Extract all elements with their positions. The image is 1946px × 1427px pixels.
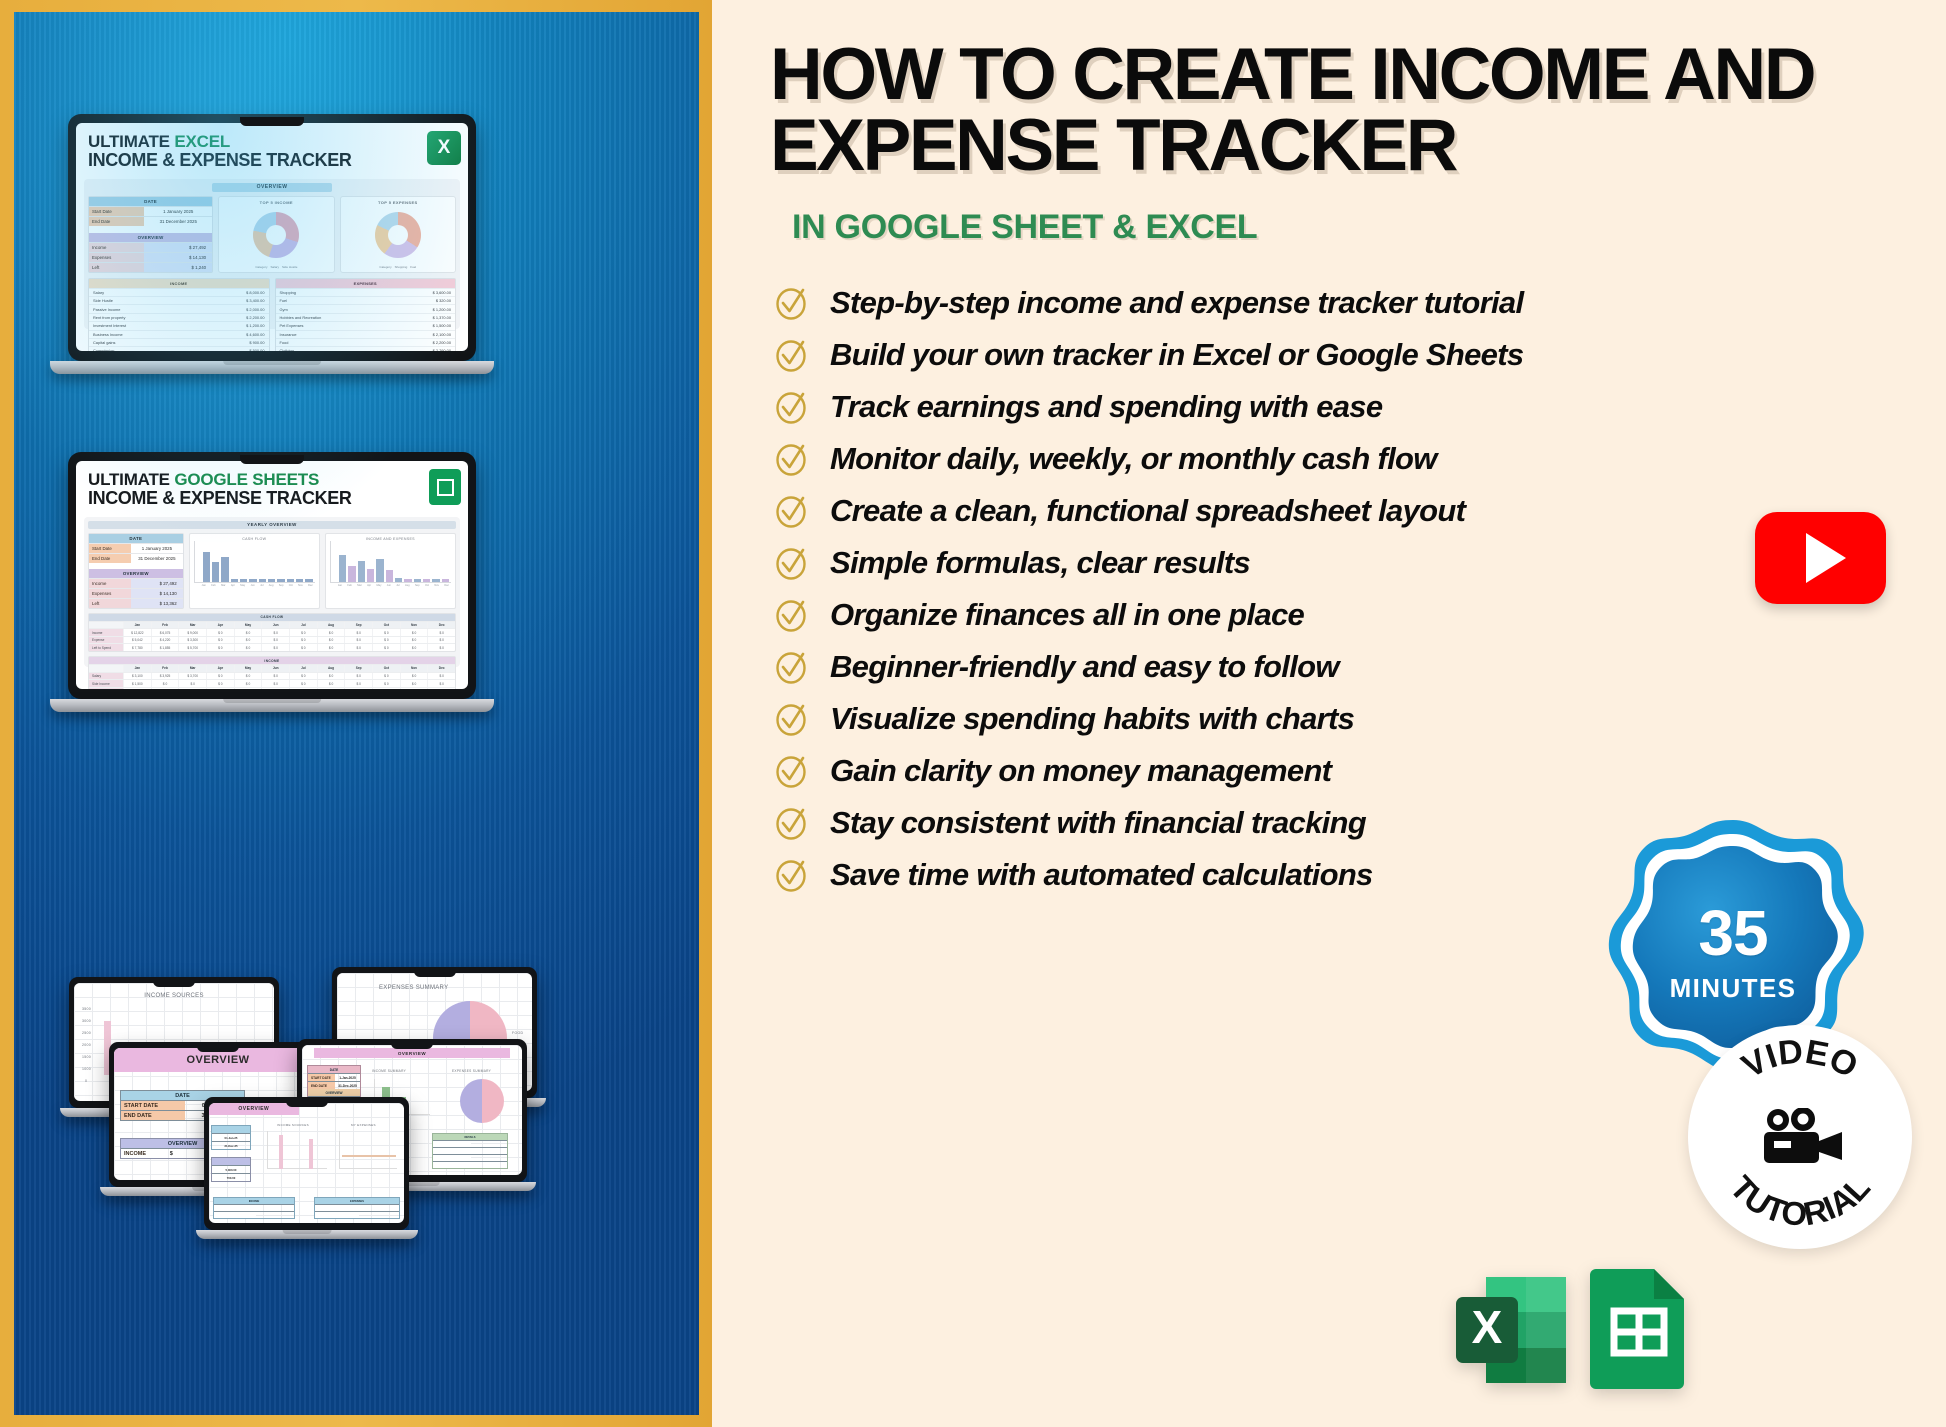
x-tick: Oct <box>425 584 429 587</box>
sheets-grid-icon <box>437 479 454 496</box>
webcam-notch <box>240 455 304 464</box>
table-row: Food$ 2,200.00 <box>276 338 456 346</box>
title-accent: EXCEL <box>174 132 230 151</box>
mockup-title-line1: ULTIMATE GOOGLE SHEETS <box>88 471 456 489</box>
expenses-table: EXPENSES <box>314 1197 400 1219</box>
row-label: Hobbies and Recreation <box>280 315 322 320</box>
row-value: $ 0 <box>178 688 206 689</box>
date-and-overview-tables: DATE Start Date 1 January 2025 End Date … <box>88 533 184 609</box>
row-value: $ 0 <box>234 688 262 689</box>
row-label: Business Income <box>93 332 123 337</box>
row-label: Left <box>89 599 131 608</box>
x-tick: Mar <box>221 584 225 587</box>
row-value: $ 0 <box>427 688 455 689</box>
row-value: $ 27,492 <box>131 579 183 588</box>
row-value: $ 0 <box>372 637 400 644</box>
row-label: Gym <box>280 307 288 312</box>
row-value: $ 1,200.00 <box>246 323 264 328</box>
table-row: Fuel$ 320.00 <box>276 296 456 304</box>
legend-item: FOOD <box>512 1031 523 1035</box>
month-header: Mar <box>178 622 206 629</box>
date-table-header: DATE <box>89 534 183 543</box>
row-value: $ 0 <box>372 680 400 687</box>
row-value: $ 1,200.00 <box>433 307 451 312</box>
legend-item: Fuel <box>410 265 416 269</box>
row-value: $ 0 <box>289 688 317 689</box>
check-circle-icon <box>774 286 808 320</box>
feature-item: Step-by-step income and expense tracker … <box>774 277 1906 329</box>
table-row: End Date 31 December 2025 <box>89 216 212 226</box>
row-value: $ 0 <box>234 680 262 687</box>
y-tick: 1500 <box>82 1055 91 1059</box>
chart-title: INCOME SOURCES <box>277 1123 309 1127</box>
month-header: May <box>234 622 262 629</box>
x-tick: May <box>376 584 381 587</box>
y-tick: 3000 <box>82 1019 91 1023</box>
date-and-overview-tables: DATE Start Date 1 January 2025 End Date … <box>88 196 213 273</box>
table-row: Pet Expenses$ 1,500.00 <box>276 321 456 329</box>
chart-title: EXPENSES SUMMARY <box>379 985 448 991</box>
chart-x-axis: JanFebMarAprMayJunJulAugSepOctNovDec <box>330 583 451 587</box>
row-value: $ 6,075 <box>151 629 179 636</box>
google-sheets-app-badge <box>429 469 461 505</box>
mockup-header: ULTIMATE EXCEL INCOME & EXPENSE TRACKER <box>76 123 468 175</box>
y-tick: 2500 <box>82 1031 91 1035</box>
check-circle-icon <box>774 442 808 476</box>
row-label: Side Hustle <box>93 298 113 303</box>
month-header: Dec <box>427 622 455 629</box>
feature-label: Gain clarity on money management <box>830 753 1331 789</box>
row-value: $ 0 <box>234 644 262 651</box>
legend-item: Shopping <box>395 265 408 269</box>
month-header: Feb <box>151 622 179 629</box>
row-value: $ 12,822 <box>123 629 151 636</box>
row-value: $ 1,855 <box>151 644 179 651</box>
workbook-tab: YEARLY OVERVIEW <box>88 521 456 529</box>
table-row: Shopping$ 3,600.00 <box>276 288 456 296</box>
overview-band: OVERVIEW <box>209 1103 299 1115</box>
row-value: $ 0 <box>372 688 400 689</box>
feature-item: Track earnings and spending with ease <box>774 381 1906 433</box>
row-value: 31-Dec-2025 <box>335 1082 360 1089</box>
y-tick: 1000 <box>82 1067 91 1071</box>
feature-item: Simple formulas, clear results <box>774 537 1906 589</box>
x-tick: Oct <box>289 584 293 587</box>
row-value: 31-Dec-25 <box>212 1142 250 1149</box>
row-value: $ 1,000 <box>123 688 151 689</box>
x-tick: Jul <box>396 584 399 587</box>
check-circle-icon <box>774 858 808 892</box>
row-value: $ 0 <box>400 688 428 689</box>
y-tick: 2000 <box>82 1043 91 1047</box>
legend-item: Category <box>379 265 391 269</box>
row-value: $ 0 <box>344 629 372 636</box>
feature-item: Organize finances all in one place <box>774 589 1906 641</box>
feature-list: Step-by-step income and expense tracker … <box>774 277 1906 901</box>
workbook-tab-label: OVERVIEW <box>212 183 332 192</box>
income-expenses-chart-card: INCOME AND EXPENSES JanFebMarAprMayJunJu… <box>325 533 456 609</box>
table-row: Rent from property$ 2,200.00 <box>89 313 269 321</box>
row-value: $ 0 <box>206 644 234 651</box>
row-value: $ 3,400.00 <box>246 298 264 303</box>
table-row: Start Date 1 January 2025 <box>89 543 183 553</box>
table-row: Left to Spend$ 7,780$ 1,855$ 5,700$ 0$ 0… <box>89 643 455 651</box>
month-header: Jan <box>123 665 151 672</box>
check-circle-icon <box>774 494 808 528</box>
row-value: $ 14,130 <box>144 253 212 262</box>
donut-chart-expenses <box>375 212 421 258</box>
app-logos: X <box>1452 1263 1688 1389</box>
month-header: Oct <box>372 665 400 672</box>
title-accent: GOOGLE SHEETS <box>174 470 319 489</box>
row-value: $ 0 <box>261 637 289 644</box>
table-header-row: JanFebMarAprMayJunJulAugSepOctNovDec <box>89 621 455 629</box>
table-row: Capital gains$ 900.00 <box>89 338 269 346</box>
row-value: $ 0 <box>206 673 234 680</box>
video-camera-icon <box>1754 1108 1846 1166</box>
check-circle-icon <box>774 546 808 580</box>
row-value: $ 9,000 <box>178 629 206 636</box>
feature-label: Organize finances all in one place <box>830 597 1304 633</box>
page-title: HOW TO CREATE INCOME AND EXPENSE TRACKER <box>770 40 1880 182</box>
bar-chart-cashflow <box>194 541 315 583</box>
legend-item: Salary <box>271 265 280 269</box>
month-header: Aug <box>317 665 345 672</box>
row-label: Expense <box>89 637 123 644</box>
row-label: Start Date <box>89 207 144 216</box>
month-header: Jun <box>261 622 289 629</box>
row-value: $ 3,925 <box>151 673 179 680</box>
workbook-tab-label: YEARLY OVERVIEW <box>88 521 456 529</box>
feature-label: Track earnings and spending with ease <box>830 389 1382 425</box>
workbook-tab: OVERVIEW <box>212 183 332 192</box>
row-value: $ 1,500 <box>123 680 151 687</box>
laptop-lid: X ULTIMATE EXCEL INCOME & EXPENSE TRACKE… <box>68 114 476 361</box>
row-value: $ 0 <box>261 644 289 651</box>
row-label: INCOME <box>121 1149 168 1158</box>
x-tick: Jan <box>202 584 206 587</box>
laptop-screen: ULTIMATE GOOGLE SHEETS INCOME & EXPENSE … <box>76 461 468 689</box>
row-label: Shopping <box>280 290 296 295</box>
product-listing-poster: X ULTIMATE EXCEL INCOME & EXPENSE TRACKE… <box>0 0 1946 1427</box>
row-value: $ 0 <box>317 673 345 680</box>
month-header: Nov <box>400 622 428 629</box>
blue-backdrop: X ULTIMATE EXCEL INCOME & EXPENSE TRACKE… <box>14 12 699 1415</box>
row-value: 1 January 2025 <box>144 207 212 216</box>
row-label: Rent from property <box>93 315 125 320</box>
x-tick: Aug <box>405 584 410 587</box>
row-value: $ 5,700 <box>178 644 206 651</box>
overview-table: 5,300.00 700.00 <box>211 1157 251 1182</box>
table-row: Side Hustle$ 3,400.00 <box>89 296 269 304</box>
row-label: Fuel <box>280 298 288 303</box>
row-value: $ 0 <box>234 673 262 680</box>
row-value: $ 2,200.00 <box>433 340 451 345</box>
title-prefix: ULTIMATE <box>88 470 170 489</box>
microsoft-excel-logo: X <box>1452 1271 1570 1389</box>
table-row: Commission$ 500.00 <box>89 346 269 351</box>
month-header: Feb <box>151 665 179 672</box>
row-value: $ 2,760.00 <box>433 348 451 351</box>
table-row: Income $ 27,492 <box>89 578 183 588</box>
row-value: $ 0 <box>178 680 206 687</box>
row-value: $ 0 <box>400 637 428 644</box>
title-prefix: ULTIMATE <box>88 132 170 151</box>
overview-table-header: OVERVIEW <box>89 569 183 578</box>
row-value: 01-Jan-25 <box>212 1134 250 1141</box>
cash-flow-chart-card: CASH FLOW JanFebMarAprMayJunJulAugSepOct… <box>189 533 320 609</box>
row-value: $ 1,500.00 <box>433 323 451 328</box>
check-circle-icon <box>774 806 808 840</box>
mockup-title-line1: ULTIMATE EXCEL <box>88 133 456 151</box>
row-value: $ 3,700 <box>178 673 206 680</box>
income-expense-tables: INCOME Salary$ 8,000.00Side Hustle$ 3,40… <box>88 278 456 351</box>
overview-band: OVERVIEW <box>314 1048 510 1058</box>
row-value: $ 1,370.00 <box>433 315 451 320</box>
income-band: INCOME JanFebMarAprMayJunJulAugSepOctNov… <box>88 656 456 689</box>
table-row: START DATE 1-Jan-2025 <box>308 1073 360 1081</box>
row-value: $ 0 <box>289 673 317 680</box>
table-row: Side Income$ 1,500$ 0$ 0$ 0$ 0$ 0$ 0$ 0$… <box>89 679 455 687</box>
x-tick: Aug <box>269 584 274 587</box>
table-row: Start Date 1 January 2025 <box>89 206 212 216</box>
feature-item: Beginner-friendly and easy to follow <box>774 641 1906 693</box>
youtube-play-icon[interactable] <box>1755 512 1886 604</box>
feature-label: Stay consistent with financial tracking <box>830 805 1366 841</box>
row-value: $ 0 <box>317 644 345 651</box>
excel-letter: X <box>1472 1301 1503 1353</box>
check-circle-icon <box>774 754 808 788</box>
webcam-notch <box>240 117 304 126</box>
row-value: $ 0 <box>317 688 345 689</box>
row-value: $ 0 <box>400 629 428 636</box>
table-row: Expenses $ 14,130 <box>89 252 212 262</box>
check-circle-icon <box>774 650 808 684</box>
row-label: End Date <box>89 554 131 563</box>
row-value: 1-Jan-2025 <box>335 1074 360 1081</box>
device-cluster: INCOME SOURCES 3500 3000 2500 2000 1500 … <box>14 967 699 1387</box>
row-value: $ 0 <box>344 673 372 680</box>
feature-label: Beginner-friendly and easy to follow <box>830 649 1339 685</box>
band-header: CASH FLOW <box>89 614 455 621</box>
laptop-screen: OVERVIEW 01-Jan-25 31-Dec-25 5,300.00 70… <box>209 1103 404 1223</box>
table-row: Left $ 13,362 <box>89 598 183 608</box>
month-header: Oct <box>372 622 400 629</box>
row-value: $ 0 <box>261 673 289 680</box>
x-tick: Sep <box>279 584 284 587</box>
table-row: Income $ 27,492 <box>89 242 212 252</box>
band-header: INCOME <box>89 657 455 664</box>
row-value: $ 5,042 <box>123 637 151 644</box>
row-value: $ 0 <box>151 680 179 687</box>
table-header-row: JanFebMarAprMayJunJulAugSepOctNovDec <box>89 664 455 672</box>
page-subtitle: IN GOOGLE SHEET & EXCEL <box>792 208 1906 247</box>
table-row: Gym$ 1,200.00 <box>276 304 456 312</box>
row-value: 31 December 2025 <box>131 554 183 563</box>
row-label: End Date <box>89 217 144 226</box>
row-label: Expenses <box>89 253 144 262</box>
feature-item: Gain clarity on money management <box>774 745 1906 797</box>
row-label: START DATE <box>308 1074 335 1081</box>
legend-item: Category <box>255 265 267 269</box>
chart-title: EXPENSES SUMMARY <box>452 1069 491 1073</box>
row-label: Income <box>89 579 131 588</box>
x-tick: Apr <box>231 584 235 587</box>
workbook-area: YEARLY OVERVIEW DATE Start Date 1 Januar… <box>84 517 460 667</box>
row-label: Salary <box>93 290 104 295</box>
chart-title: MY EXPENSES <box>351 1123 376 1127</box>
row-value: $ 1,240 <box>144 263 212 272</box>
row-value: $ 0 <box>289 637 317 644</box>
x-tick: Nov <box>434 584 439 587</box>
feature-item: Monitor daily, weekly, or monthly cash f… <box>774 433 1906 485</box>
cashflow-band: CASH FLOW JanFebMarAprMayJunJulAugSepOct… <box>88 613 456 652</box>
mockup-title-line2: INCOME & EXPENSE TRACKER <box>88 489 456 509</box>
bar-chart-income-expenses <box>330 541 451 583</box>
row-value: $ 0 <box>372 644 400 651</box>
row-value: $ 3,100 <box>123 673 151 680</box>
row-label: Food <box>280 340 289 345</box>
x-tick: May <box>240 584 245 587</box>
income-table: INCOME <box>213 1197 295 1219</box>
row-label: Capital gains <box>93 340 116 345</box>
month-header: Aug <box>317 622 345 629</box>
row-value: $ 13,362 <box>131 599 183 608</box>
row-label: Commission <box>93 348 114 351</box>
right-content-panel: HOW TO CREATE INCOME AND EXPENSE TRACKER… <box>712 0 1946 1427</box>
laptop-base <box>50 699 494 712</box>
feature-item: Build your own tracker in Excel or Googl… <box>774 329 1906 381</box>
row-value: $ 3,300 <box>178 637 206 644</box>
row-value: $ 0 <box>206 637 234 644</box>
row-value: $ 0 <box>206 629 234 636</box>
feature-item: Create a clean, functional spreadsheet l… <box>774 485 1906 537</box>
y-tick: 3500 <box>82 1007 91 1011</box>
overview-table-header: OVERVIEW <box>89 233 212 242</box>
row-value: $ 8,000.00 <box>246 290 264 295</box>
row-value: 700.00 <box>212 1174 250 1181</box>
month-header: Apr <box>206 622 234 629</box>
table-row: Expenses $ 14,130 <box>89 588 183 598</box>
row-value: $ 0 <box>289 644 317 651</box>
laptop-screen: X ULTIMATE EXCEL INCOME & EXPENSE TRACKE… <box>76 123 468 351</box>
row-value: $ 0 <box>427 637 455 644</box>
table-row: Hobbies and Recreation$ 1,370.00 <box>276 313 456 321</box>
x-tick: Jun <box>387 584 391 587</box>
workbook-area: OVERVIEW DATE Start Date 1 January 2025 <box>84 179 460 329</box>
row-value: $ 0 <box>400 680 428 687</box>
feature-label: Save time with automated calculations <box>830 857 1373 893</box>
row-value: $ 0 <box>372 629 400 636</box>
row-value: $ 900.00 <box>249 340 264 345</box>
chart-title: INCOME SUMMARY <box>372 1069 406 1073</box>
month-header: Dec <box>427 665 455 672</box>
table-row: End Date 31 December 2025 <box>89 553 183 563</box>
row-value: $ 0 <box>372 673 400 680</box>
row-label: Passive Income <box>93 307 120 312</box>
row-label: Income <box>89 243 144 252</box>
row-label: Business <box>89 688 123 689</box>
row-label: Salary <box>89 673 123 680</box>
row-value: $ 0 <box>261 688 289 689</box>
month-header: Nov <box>400 665 428 672</box>
row-value: $ 0 <box>427 673 455 680</box>
x-tick: Apr <box>367 584 371 587</box>
table-row: Passive Income$ 2,000.00 <box>89 304 269 312</box>
row-label: Side Income <box>89 680 123 687</box>
table-header: OVERVIEW <box>308 1089 360 1096</box>
row-value: 31 December 2025 <box>144 217 212 226</box>
feature-item: Visualize spending habits with charts <box>774 693 1906 745</box>
google-sheets-logo <box>1588 1263 1688 1389</box>
row-label: END DATE <box>121 1111 185 1120</box>
feature-label: Step-by-step income and expense tracker … <box>830 285 1523 321</box>
y-tick: 0 <box>85 1079 87 1083</box>
date-table-header: DATE <box>89 197 212 206</box>
table-row: Left $ 1,240 <box>89 262 212 272</box>
excel-app-badge: X <box>427 131 461 165</box>
row-label: Left <box>89 263 144 272</box>
row-label: Income <box>89 629 123 636</box>
x-tick: Nov <box>298 584 303 587</box>
row-value: $ 0 <box>344 680 372 687</box>
row-value: $ 0 <box>344 688 372 689</box>
month-header: Jan <box>123 622 151 629</box>
top-income-donut-card: TOP 5 INCOME Category Salary Side Hustle <box>218 196 334 273</box>
table-row: END DATE 31-Dec-2025 <box>308 1081 360 1089</box>
row-value: $ 2,100.00 <box>433 332 451 337</box>
x-tick: Mar <box>357 584 361 587</box>
month-header: Jul <box>289 622 317 629</box>
feature-label: Visualize spending habits with charts <box>830 701 1354 737</box>
row-value: $ 0 <box>317 680 345 687</box>
table-row: Insurance$ 2,100.00 <box>276 330 456 338</box>
row-value: $ 0 <box>344 644 372 651</box>
row-label: Expenses <box>89 589 131 598</box>
table-row: Income$ 12,822$ 6,075$ 9,000$ 0$ 0$ 0$ 0… <box>89 628 455 636</box>
row-value: $ 4,220 <box>151 637 179 644</box>
month-header: Jun <box>261 665 289 672</box>
row-value: $ 0 <box>151 688 179 689</box>
laptop-lid: ULTIMATE GOOGLE SHEETS INCOME & EXPENSE … <box>68 452 476 699</box>
x-tick: Feb <box>211 584 215 587</box>
x-tick: Dec <box>308 584 313 587</box>
row-value: $ 14,130 <box>131 589 183 598</box>
row-value: $ 2,200.00 <box>246 315 264 320</box>
table-row: Salary$ 3,100$ 3,925$ 3,700$ 0$ 0$ 0$ 0$… <box>89 672 455 680</box>
row-value: $ 0 <box>317 629 345 636</box>
row-value: $ 3,600.00 <box>433 290 451 295</box>
row-value: $ 0 <box>400 644 428 651</box>
laptop-base <box>50 361 494 374</box>
feature-label: Build your own tracker in Excel or Googl… <box>830 337 1523 373</box>
row-value: $ 500.00 <box>249 348 264 351</box>
video-tutorial-badge: VIDEO TUTORIAL <box>1688 1025 1912 1249</box>
row-label: END DATE <box>308 1082 335 1089</box>
mockup-title-line2: INCOME & EXPENSE TRACKER <box>88 151 456 171</box>
laptop-mockup-front-overview: OVERVIEW 01-Jan-25 31-Dec-25 5,300.00 70… <box>204 1097 409 1239</box>
row-label: Start Date <box>89 544 131 553</box>
top-expenses-donut-card: TOP 5 EXPENSES Category Shopping Fuel <box>340 196 456 273</box>
income-table: INCOME Salary$ 8,000.00Side Hustle$ 3,40… <box>88 278 270 351</box>
laptop-mockup-excel: X ULTIMATE EXCEL INCOME & EXPENSE TRACKE… <box>68 114 476 374</box>
pie-chart <box>460 1079 504 1123</box>
row-value: $ 0 <box>344 637 372 644</box>
row-value: $ 4,600.00 <box>246 332 264 337</box>
row-label: Clothing <box>280 348 294 351</box>
row-value: $ 0 <box>317 637 345 644</box>
check-circle-icon <box>774 338 808 372</box>
